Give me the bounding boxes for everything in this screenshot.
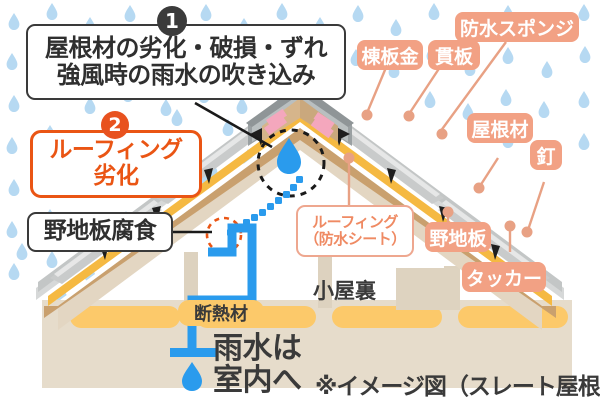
callout-problem-2-line1: ルーフィング <box>49 138 182 164</box>
part-label-mune-bankin: 棟板金 <box>357 40 423 70</box>
part-label-nukiita: 貫板 <box>428 40 480 70</box>
area-label-attic: 小屋裏 <box>313 275 376 305</box>
part-label-tacker: タッカー <box>462 262 546 292</box>
part-label-yaneza: 屋根材 <box>467 113 533 143</box>
result-text-line2: 室内へ <box>213 365 302 397</box>
footnote: ※イメージ図（スレート屋根） <box>315 367 600 401</box>
callout-problem-1-line1: 屋根材の劣化・破損・ずれ <box>45 35 327 62</box>
result-text: 雨水は 室内へ <box>213 333 302 398</box>
result-text-line1: 雨水は <box>213 333 302 365</box>
callout-problem-1: 屋根材の劣化・破損・ずれ 強風時の雨水の吹き込み <box>26 24 346 100</box>
callout-problem-2: ルーフィング 劣化 <box>30 130 202 198</box>
roof-leak-diagram: 屋根材の劣化・破損・ずれ 強風時の雨水の吹き込み 1 ルーフィング 劣化 2 野… <box>0 0 600 406</box>
callout-problem-1-line2: 強風時の雨水の吹き込み <box>57 62 316 89</box>
callout-sheathing-rot: 野地板腐食 <box>27 212 173 252</box>
callout-roofing-sheet-line2: （防水シート） <box>304 231 406 248</box>
badge-problem-1: 1 <box>157 6 187 36</box>
callout-roofing-sheet: ルーフィング （防水シート） <box>296 205 414 257</box>
part-label-nojiita: 野地板 <box>425 222 491 252</box>
callout-roofing-sheet-line1: ルーフィング <box>312 214 398 231</box>
area-label-insulation: 断熱材 <box>178 300 264 326</box>
part-label-kugi: 釘 <box>530 140 562 170</box>
part-label-bousui-sponge: 防水スポンジ <box>455 12 579 42</box>
badge-problem-2: 2 <box>101 111 129 139</box>
callout-problem-2-line2: 劣化 <box>94 164 139 190</box>
